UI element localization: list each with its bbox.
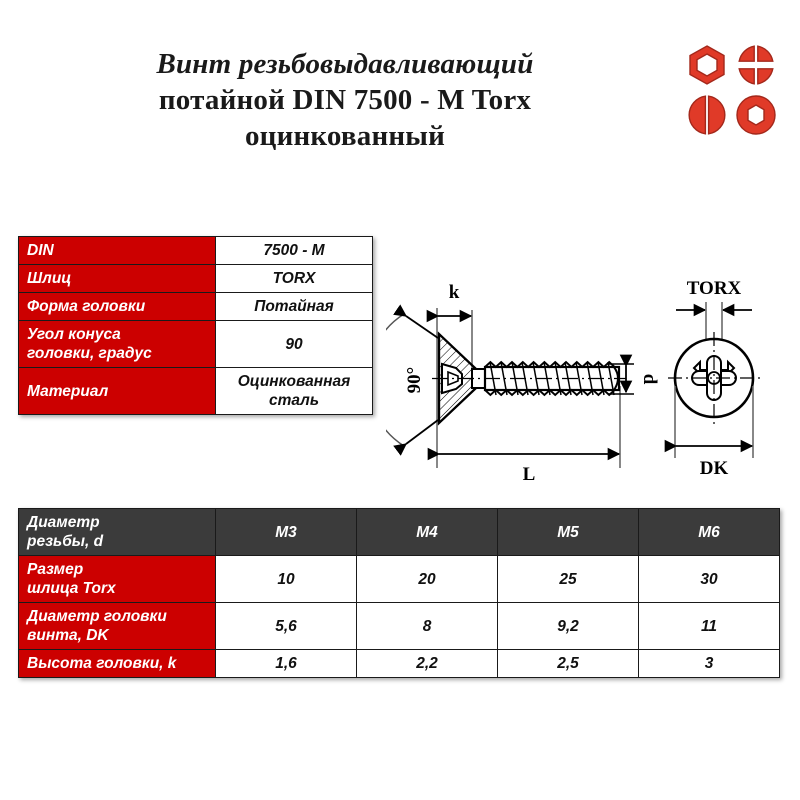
dim-label-dk: DK [700,458,729,479]
spec-label-drive: Шлиц [19,265,216,293]
dim-label-torx: TORX [687,278,742,299]
dim-header-label: Диаметррезьбы, d [19,509,216,556]
dim-label-d: d [639,374,660,385]
table-row: Материал Оцинкованнаясталь [19,368,373,415]
spec-value-material: Оцинкованнаясталь [216,368,373,415]
dim-cell: 8 [357,603,498,650]
spec-label-cone-angle: Угол конусаголовки, градус [19,321,216,368]
dim-cell: 2,2 [357,650,498,678]
specification-table: DIN 7500 - M Шлиц TORX Форма головки Пот… [18,236,373,415]
technical-drawing: k 90° [386,268,790,494]
dimension-table: Диаметррезьбы, d M3 M4 M5 M6 Размершлица… [18,508,780,678]
dim-label-cone-angle: 90° [404,367,425,394]
dim-cell: 10 [216,556,357,603]
dim-header-size-m5: M5 [498,509,639,556]
dim-label-head-diameter: Диаметр головкивинта, DK [19,603,216,650]
dim-cell: 2,5 [498,650,639,678]
dimension-cone-angle: 90° [386,314,438,446]
spec-label-din: DIN [19,237,216,265]
title-line-1: Винт резьбовыдавливающий [40,46,650,82]
phillips-screw-head-icon [739,46,773,84]
dim-header-size-m6: M6 [639,509,780,556]
dim-cell: 9,2 [498,603,639,650]
dim-cell: 1,6 [216,650,357,678]
table-row: DIN 7500 - M [19,237,373,265]
spec-value-head-form: Потайная [216,293,373,321]
spec-label-head-form: Форма головки [19,293,216,321]
dim-label-head-height: Высота головки, k [19,650,216,678]
table-row: Шлиц TORX [19,265,373,293]
table-row: Высота головки, k 1,6 2,2 2,5 3 [19,650,780,678]
brand-logo [686,44,778,136]
screw-top-view: TORX [668,278,760,479]
dim-label-k: k [449,282,460,303]
table-row: Форма головки Потайная [19,293,373,321]
spec-value-drive: TORX [216,265,373,293]
hex-socket-screw-head-icon [737,96,775,134]
dimension-k: k [438,282,471,316]
dim-cell: 11 [639,603,780,650]
dim-cell: 3 [639,650,780,678]
screw-side-view: k 90° [386,282,660,485]
dim-label-torx-size: Размершлица Torx [19,556,216,603]
spec-value-cone-angle: 90 [216,321,373,368]
title-line-3: оцинкованный [40,118,650,154]
spec-label-material: Материал [19,368,216,415]
table-row: Диаметр головкивинта, DK 5,6 8 9,2 11 [19,603,780,650]
dim-cell: 25 [498,556,639,603]
page-title: Винт резьбовыдавливающий потайной DIN 75… [40,46,650,154]
table-row: Размершлица Torx 10 20 25 30 [19,556,780,603]
title-line-2: потайной DIN 7500 - M Torx [40,82,650,118]
dim-header-size-m4: M4 [357,509,498,556]
spec-value-din: 7500 - M [216,237,373,265]
slotted-screw-head-icon [689,96,725,134]
dim-cell: 20 [357,556,498,603]
dim-label-L: L [523,464,536,485]
dim-cell: 30 [639,556,780,603]
dim-cell: 5,6 [216,603,357,650]
dimension-L: L [439,454,619,485]
hex-nut-icon [690,46,724,84]
table-header-row: Диаметррезьбы, d M3 M4 M5 M6 [19,509,780,556]
table-row: Угол конусаголовки, градус 90 [19,321,373,368]
dim-header-size-m3: M3 [216,509,357,556]
